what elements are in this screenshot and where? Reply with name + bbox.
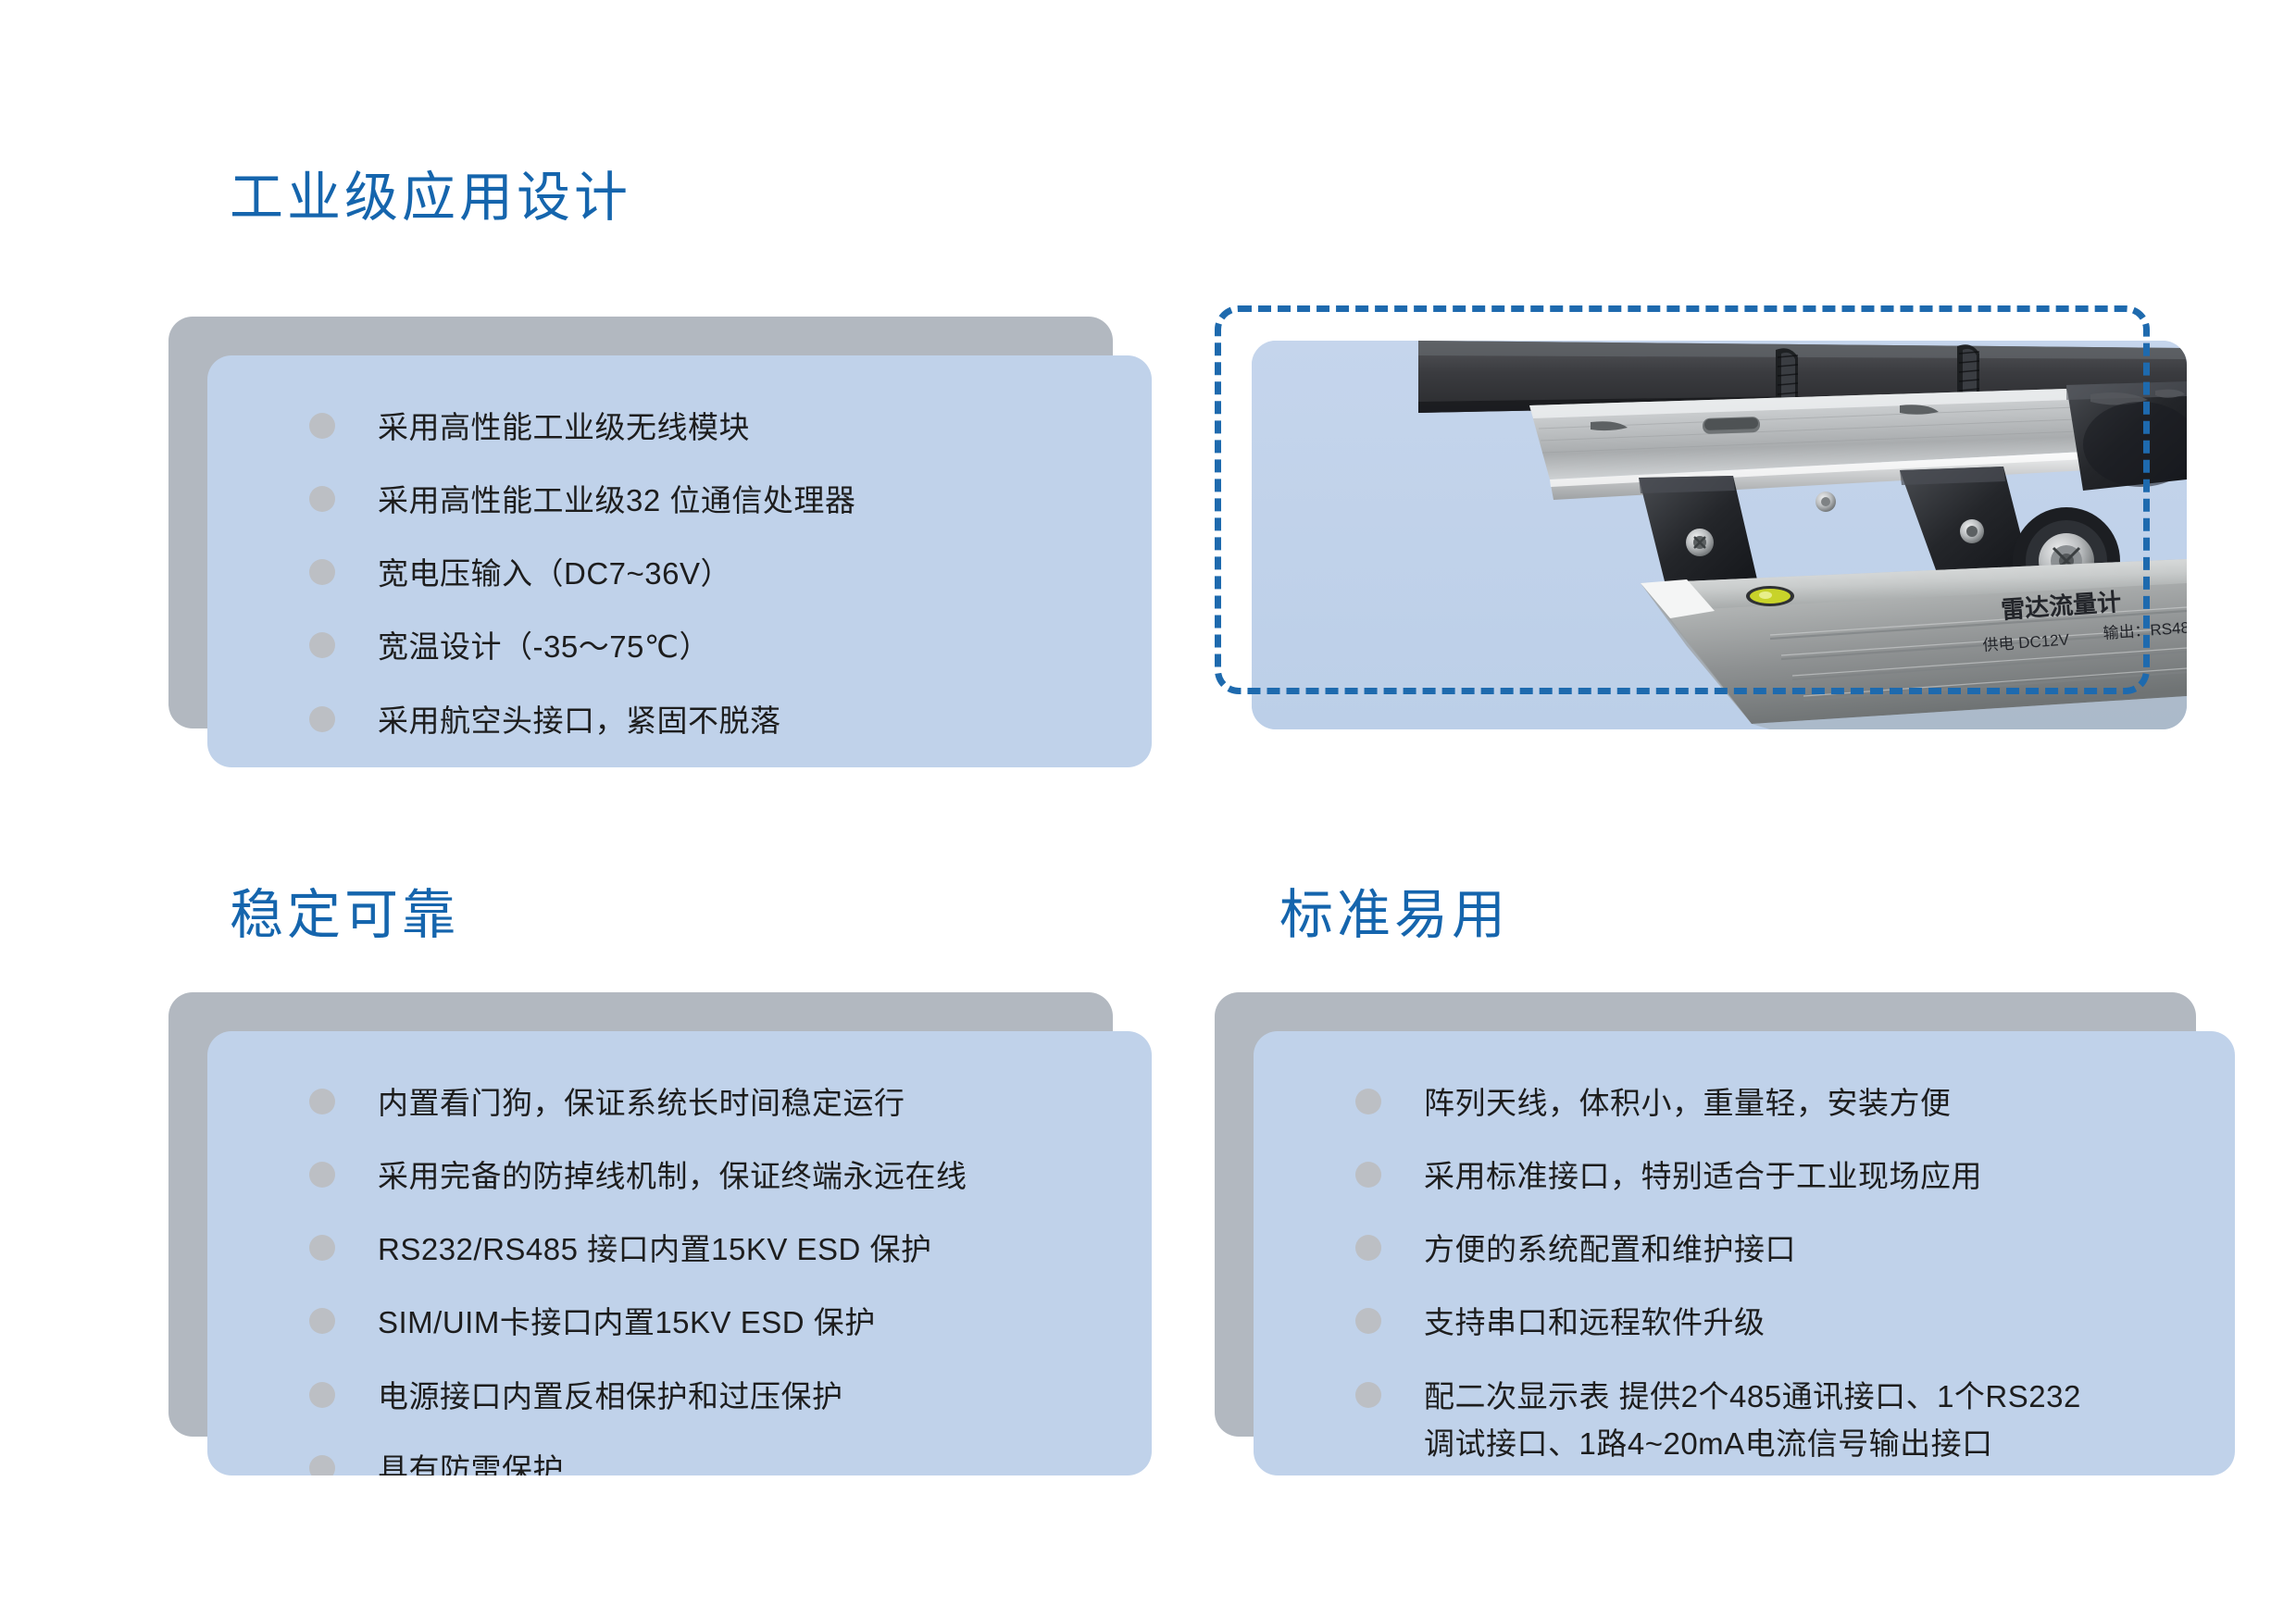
product-photo: 雷达流量计 供电 DC12V 输出：RS485 (1252, 341, 2187, 729)
list-item-label: 阵列天线，体积小，重量轻，安装方便 (1424, 1079, 1952, 1127)
list-item-label: 宽温设计（-35～75℃） (378, 623, 710, 670)
bullet-dot-icon (309, 706, 335, 732)
list-item-label: RS232/RS485 接口内置15KV ESD 保护 (378, 1226, 932, 1273)
list-item: 支持串口和远程软件升级 (1355, 1299, 2235, 1346)
bullet-dot-icon (309, 1382, 335, 1408)
bullet-dot-icon (1355, 1308, 1381, 1334)
bullet-list-industrial: 采用高性能工业级无线模块 采用高性能工业级32 位通信处理器 宽电压输入（DC7… (207, 355, 1152, 767)
card-blue-panel: 采用高性能工业级无线模块 采用高性能工业级32 位通信处理器 宽电压输入（DC7… (207, 355, 1152, 767)
bullet-dot-icon (309, 632, 335, 658)
list-item-label: 内置看门狗，保证系统长时间稳定运行 (378, 1079, 905, 1127)
bullet-dot-icon (309, 559, 335, 585)
list-item: 电源接口内置反相保护和过压保护 (309, 1373, 1152, 1420)
bullet-dot-icon (1355, 1382, 1381, 1408)
list-item: 采用高性能工业级32 位通信处理器 (309, 477, 1152, 524)
list-item: 采用完备的防掉线机制，保证终端永远在线 (309, 1152, 1152, 1200)
list-item: 采用高性能工业级无线模块 (309, 404, 1152, 451)
list-item-label: 采用完备的防掉线机制，保证终端永远在线 (378, 1152, 967, 1200)
section-title-industrial: 工业级应用设计 (230, 171, 631, 225)
list-item: 采用航空头接口，紧固不脱落 (309, 697, 1152, 744)
list-item: 采用标准接口，特别适合于工业现场应用 (1355, 1152, 2235, 1200)
card-blue-panel: 阵列天线，体积小，重量轻，安装方便 采用标准接口，特别适合于工业现场应用 方便的… (1254, 1031, 2235, 1475)
list-item: 阵列天线，体积小，重量轻，安装方便 (1355, 1079, 2235, 1127)
bullet-dot-icon (309, 1089, 335, 1114)
card-stable-reliable: 内置看门狗，保证系统长时间稳定运行 采用完备的防掉线机制，保证终端永远在线 RS… (168, 992, 1113, 1437)
list-item-label: 方便的系统配置和维护接口 (1424, 1226, 1796, 1273)
list-item: SIM/UIM卡接口内置15KV ESD 保护 (309, 1299, 1152, 1346)
bullet-dot-icon (309, 1455, 335, 1475)
section-title-stable: 稳定可靠 (230, 889, 459, 942)
list-item: 内置看门狗，保证系统长时间稳定运行 (309, 1079, 1152, 1127)
list-item-label: 支持串口和远程软件升级 (1424, 1299, 1766, 1346)
card-standard-easy: 阵列天线，体积小，重量轻，安装方便 采用标准接口，特别适合于工业现场应用 方便的… (1215, 992, 2196, 1437)
list-item-label: 采用航空头接口，紧固不脱落 (378, 697, 781, 744)
bullet-dot-icon (309, 486, 335, 512)
card-blue-panel: 内置看门狗，保证系统长时间稳定运行 采用完备的防掉线机制，保证终端永远在线 RS… (207, 1031, 1152, 1475)
poster-page: 工业级应用设计 采用高性能工业级无线模块 采用高性能工业级32 位通信处理器 宽… (0, 0, 2296, 1606)
list-item-label: 采用高性能工业级无线模块 (378, 404, 750, 451)
list-item-label: 采用标准接口，特别适合于工业现场应用 (1424, 1152, 1982, 1200)
list-item-label: 宽电压输入（DC7~36V） (378, 550, 731, 597)
list-item: 具有防雷保护 (309, 1446, 1152, 1475)
product-image-panel: 雷达流量计 供电 DC12V 输出：RS485 (1252, 341, 2187, 729)
list-item: 方便的系统配置和维护接口 (1355, 1226, 2235, 1273)
bullet-list-stable: 内置看门狗，保证系统长时间稳定运行 采用完备的防掉线机制，保证终端永远在线 RS… (207, 1031, 1152, 1475)
list-item: 宽电压输入（DC7~36V） (309, 550, 1152, 597)
list-item-label: 具有防雷保护 (378, 1446, 564, 1475)
bullet-dot-icon (309, 1308, 335, 1334)
bullet-list-standard: 阵列天线，体积小，重量轻，安装方便 采用标准接口，特别适合于工业现场应用 方便的… (1254, 1031, 2235, 1475)
list-item-label: 配二次显示表 提供2个485通讯接口、1个RS232 调试接口、1路4~20mA… (1424, 1373, 2081, 1467)
list-item-label: SIM/UIM卡接口内置15KV ESD 保护 (378, 1299, 876, 1346)
list-item: 宽温设计（-35～75℃） (309, 623, 1152, 670)
bullet-dot-icon (1355, 1162, 1381, 1188)
list-item: RS232/RS485 接口内置15KV ESD 保护 (309, 1226, 1152, 1273)
bullet-dot-icon (309, 413, 335, 439)
section-title-standard: 标准易用 (1279, 889, 1509, 942)
bullet-dot-icon (1355, 1089, 1381, 1114)
bullet-dot-icon (309, 1235, 335, 1261)
bullet-dot-icon (309, 1162, 335, 1188)
bullet-dot-icon (1355, 1235, 1381, 1261)
card-industrial-design: 采用高性能工业级无线模块 采用高性能工业级32 位通信处理器 宽电压输入（DC7… (168, 317, 1113, 728)
list-item-label: 电源接口内置反相保护和过压保护 (378, 1373, 843, 1420)
list-item: 配二次显示表 提供2个485通讯接口、1个RS232 调试接口、1路4~20mA… (1355, 1373, 2235, 1467)
list-item-label: 采用高性能工业级32 位通信处理器 (378, 477, 855, 524)
